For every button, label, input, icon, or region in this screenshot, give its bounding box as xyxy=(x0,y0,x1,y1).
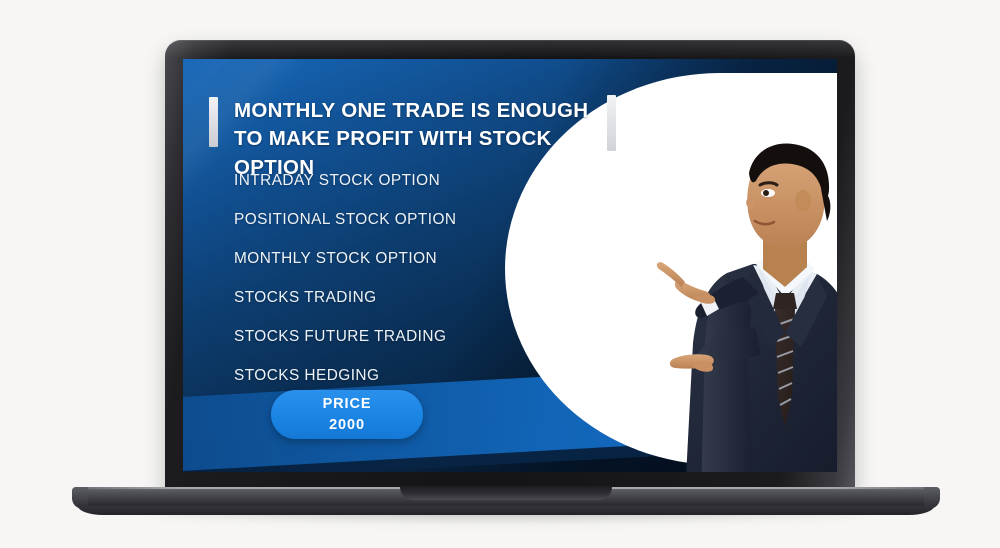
title-accent-bar-left xyxy=(209,97,218,147)
list-item: POSITIONAL STOCK OPTION xyxy=(234,211,456,229)
screenshot-stage: MONTHLY ONE TRADE IS ENOUGH TO MAKE PROF… xyxy=(0,0,1000,548)
presentation-slide: MONTHLY ONE TRADE IS ENOUGH TO MAKE PROF… xyxy=(183,59,837,472)
lid-gloss xyxy=(165,40,855,58)
laptop-screen: MONTHLY ONE TRADE IS ENOUGH TO MAKE PROF… xyxy=(183,59,837,472)
list-item: STOCKS FUTURE TRADING xyxy=(234,328,456,346)
list-item: MONTHLY STOCK OPTION xyxy=(234,250,456,268)
list-item: STOCKS TRADING xyxy=(234,289,456,307)
price-badge[interactable]: PRICE 2000 xyxy=(271,390,423,439)
list-item: INTRADAY STOCK OPTION xyxy=(234,172,456,190)
base-foot-left xyxy=(72,487,88,509)
list-item: STOCKS HEDGING xyxy=(234,367,456,385)
base-foot-right xyxy=(924,487,940,509)
feature-list: INTRADAY STOCK OPTION POSITIONAL STOCK O… xyxy=(234,172,456,406)
base-notch xyxy=(400,486,612,500)
price-label: PRICE xyxy=(323,394,372,415)
price-amount: 2000 xyxy=(329,415,365,436)
title-row: MONTHLY ONE TRADE IS ENOUGH TO MAKE PROF… xyxy=(209,97,815,182)
title-accent-bar-right xyxy=(607,95,616,151)
laptop-base xyxy=(72,487,940,509)
page-title: MONTHLY ONE TRADE IS ENOUGH TO MAKE PROF… xyxy=(234,97,609,182)
